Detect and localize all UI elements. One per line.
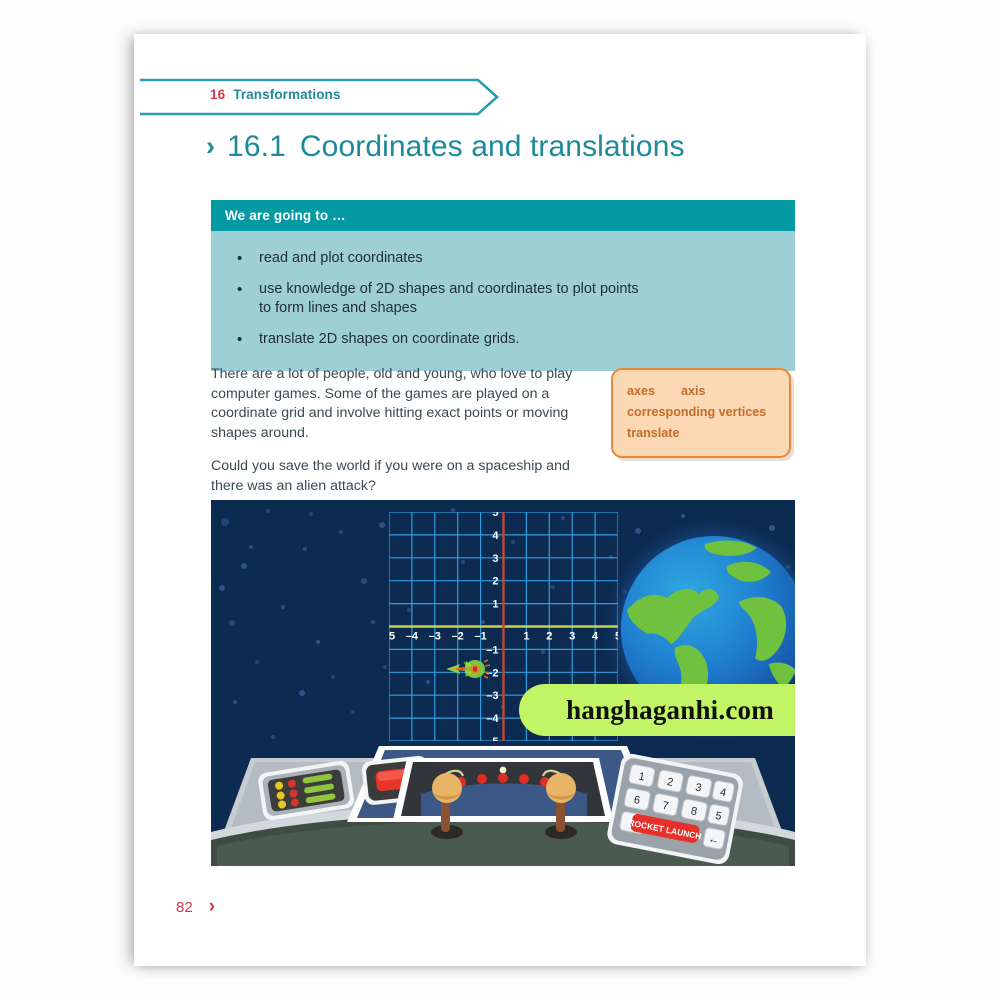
section-number: 16.1 bbox=[227, 130, 286, 163]
vocabulary-word: translate bbox=[627, 426, 680, 440]
learning-objectives-heading: We are going to … bbox=[211, 200, 795, 231]
svg-text:1: 1 bbox=[523, 631, 529, 643]
watermark-text: hanghaganhi.com bbox=[566, 695, 774, 726]
list-item: • read and plot coordinates bbox=[211, 243, 795, 274]
objective-text: use knowledge of 2D shapes and coordinat… bbox=[259, 280, 639, 318]
vocabulary-row: axesaxis bbox=[627, 384, 706, 398]
svg-text:2: 2 bbox=[492, 576, 498, 588]
learning-objectives-box: We are going to … • read and plot coordi… bbox=[211, 200, 795, 371]
svg-text:–3: –3 bbox=[486, 690, 498, 702]
chapter-name: Transformations bbox=[233, 87, 340, 102]
svg-text:–2: –2 bbox=[452, 631, 464, 643]
svg-text:–1: –1 bbox=[486, 644, 498, 656]
svg-text:4: 4 bbox=[592, 631, 599, 643]
spaceship-console: 12 34 67 85 0– ROCKET LAUNCH ← bbox=[211, 736, 795, 866]
chapter-tab: 16Transformations bbox=[140, 78, 500, 116]
svg-text:–3: –3 bbox=[429, 631, 441, 643]
page-footer: 82 › bbox=[176, 896, 215, 918]
screenshot-canvas: 16Transformations ›16.1Coordinates and t… bbox=[0, 0, 1000, 1000]
intro-paragraph-1: There are a lot of people, old and young… bbox=[211, 365, 589, 443]
watermark-badge: hanghaganhi.com bbox=[519, 684, 795, 736]
page-number: 82 bbox=[176, 899, 193, 916]
book-page: 16Transformations ›16.1Coordinates and t… bbox=[134, 34, 866, 966]
svg-text:5: 5 bbox=[615, 631, 618, 643]
page-title: ›16.1Coordinates and translations bbox=[206, 130, 685, 164]
svg-text:3: 3 bbox=[569, 631, 575, 643]
svg-text:–1: –1 bbox=[474, 631, 486, 643]
section-title-text: Coordinates and translations bbox=[300, 130, 685, 163]
alien-ship-icon bbox=[444, 657, 490, 681]
svg-text:1: 1 bbox=[492, 599, 498, 611]
illustration: –5–4–3–2–11234554321–1–2–3–4–5 bbox=[211, 500, 795, 866]
console-graphic: 12 34 67 85 0– ROCKET LAUNCH ← bbox=[211, 736, 795, 866]
list-item: • translate 2D shapes on coordinate grid… bbox=[211, 324, 795, 355]
chapter-number: 16 bbox=[210, 87, 225, 102]
list-item: • use knowledge of 2D shapes and coordin… bbox=[211, 274, 795, 324]
intro-text: There are a lot of people, old and young… bbox=[211, 365, 589, 510]
svg-text:5: 5 bbox=[492, 512, 498, 519]
intro-paragraph-2: Could you save the world if you were on … bbox=[211, 457, 589, 496]
svg-text:3: 3 bbox=[492, 553, 498, 565]
vocabulary-word: axis bbox=[681, 384, 706, 398]
learning-objectives-list: • read and plot coordinates • use knowle… bbox=[211, 231, 795, 371]
svg-text:4: 4 bbox=[492, 530, 499, 542]
vocabulary-word: corresponding vertices bbox=[627, 405, 766, 419]
chevron-right-icon: › bbox=[209, 896, 215, 918]
svg-text:–4: –4 bbox=[406, 631, 419, 643]
bullet-icon: • bbox=[237, 280, 259, 318]
objective-text: read and plot coordinates bbox=[259, 249, 423, 268]
svg-text:–4: –4 bbox=[486, 713, 499, 725]
svg-text:2: 2 bbox=[546, 631, 552, 643]
svg-text:–5: –5 bbox=[389, 631, 395, 643]
chapter-tab-text: 16Transformations bbox=[210, 87, 341, 102]
bullet-icon: • bbox=[237, 249, 259, 268]
vocabulary-word: axes bbox=[627, 384, 655, 398]
bullet-icon: • bbox=[237, 330, 259, 349]
objective-text: translate 2D shapes on coordinate grids. bbox=[259, 330, 519, 349]
svg-text:←: ← bbox=[707, 833, 720, 847]
vocabulary-box: axesaxis corresponding vertices translat… bbox=[611, 368, 791, 458]
chevron-right-icon: › bbox=[206, 131, 215, 162]
